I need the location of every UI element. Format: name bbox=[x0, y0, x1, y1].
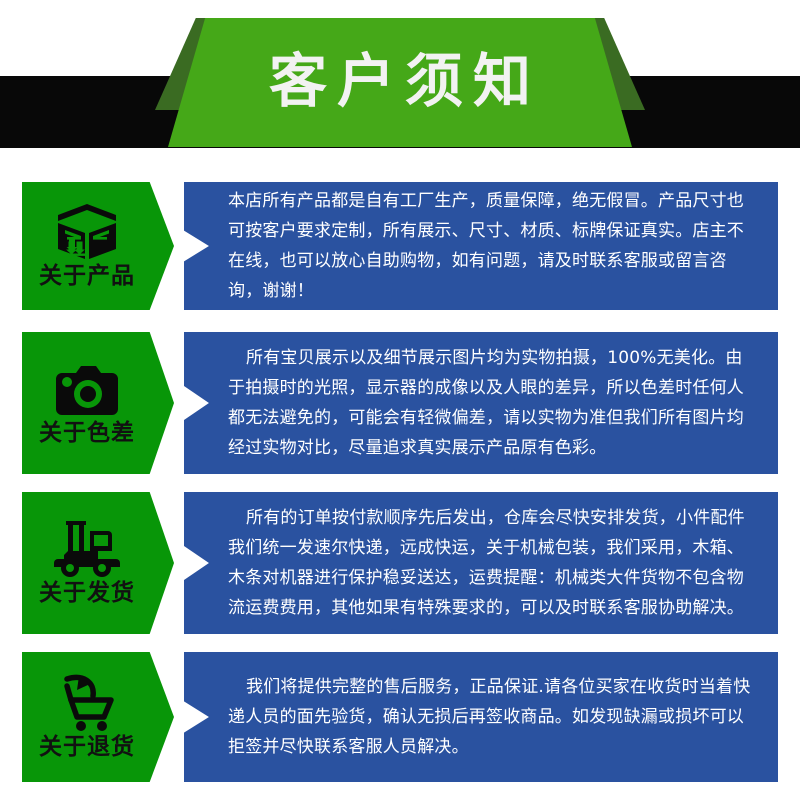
ribbon-banner: 客户须知 bbox=[168, 18, 632, 147]
body-panel-color: 所有宝贝展示以及细节展示图片均为实物拍摄，100%无美化。由于拍摄时的光照，显示… bbox=[184, 332, 778, 474]
body-panel-return: 我们将提供完整的售后服务，正品保证.请各位买家在收货时当着快递人员的面先验货，确… bbox=[184, 652, 778, 782]
body-text-color: 所有宝贝展示以及细节展示图片均为实物拍摄，100%无美化。由于拍摄时的光照，显示… bbox=[228, 343, 756, 464]
cardboard-box-this-side-up-icon bbox=[56, 202, 118, 262]
label-text-color: 关于色差 bbox=[39, 421, 135, 446]
header-banner: 客户须知 bbox=[0, 0, 800, 160]
body-panel-shipping: 所有的订单按付款顺序先后发出，仓库会尽快安排发货，小件配件我们统一发速尔快递，远… bbox=[184, 492, 778, 634]
label-panel-product[interactable]: 关于产品 bbox=[22, 182, 174, 310]
label-text-product: 关于产品 bbox=[39, 264, 135, 289]
label-panel-shipping[interactable]: 关于发货 bbox=[22, 492, 174, 634]
label-panel-return[interactable]: 关于退货 bbox=[22, 652, 174, 782]
notice-row-product: 关于产品 本店所有产品都是自有工厂生产，质量保障，绝无假冒。产品尺寸也可按客户要… bbox=[22, 182, 778, 310]
label-panel-color[interactable]: 关于色差 bbox=[22, 332, 174, 474]
label-text-shipping: 关于发货 bbox=[39, 581, 135, 606]
body-text-product: 本店所有产品都是自有工厂生产，质量保障，绝无假冒。产品尺寸也可按客户要求定制，所… bbox=[228, 186, 756, 307]
forklift-icon bbox=[54, 519, 120, 579]
body-text-shipping: 所有的订单按付款顺序先后发出，仓库会尽快安排发货，小件配件我们统一发速尔快递，远… bbox=[228, 503, 756, 624]
body-panel-product: 本店所有产品都是自有工厂生产，质量保障，绝无假冒。产品尺寸也可按客户要求定制，所… bbox=[184, 182, 778, 310]
body-text-return: 我们将提供完整的售后服务，正品保证.请各位买家在收货时当着快递人员的面先验货，确… bbox=[228, 672, 756, 763]
shopping-cart-return-icon bbox=[57, 673, 117, 733]
notice-row-shipping: 关于发货 所有的订单按付款顺序先后发出，仓库会尽快安排发货，小件配件我们统一发速… bbox=[22, 492, 778, 634]
camera-icon bbox=[56, 359, 118, 419]
page-title: 客户须知 bbox=[259, 52, 541, 114]
notice-row-color: 关于色差 所有宝贝展示以及细节展示图片均为实物拍摄，100%无美化。由于拍摄时的… bbox=[22, 332, 778, 474]
notice-row-return: 关于退货 我们将提供完整的售后服务，正品保证.请各位买家在收货时当着快递人员的面… bbox=[22, 652, 778, 782]
label-text-return: 关于退货 bbox=[39, 735, 135, 760]
